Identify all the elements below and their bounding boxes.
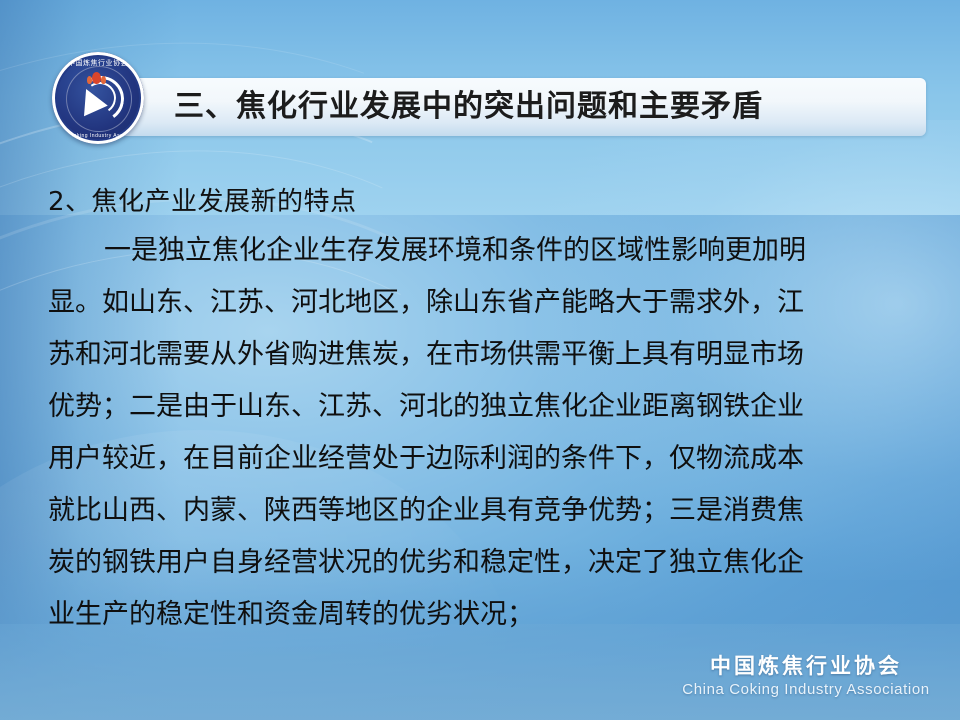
body-heading: 2、焦化产业发展新的特点 — [48, 186, 928, 219]
body-line: 业生产的稳定性和资金周转的优劣状况； — [48, 589, 928, 641]
body-line: 一是独立焦化企业生存发展环境和条件的区域性影响更加明 — [48, 225, 928, 277]
logo-ring-text-en: China Coking Industry Association — [52, 133, 144, 139]
body-line: 用户较近，在目前企业经营处于边际利润的条件下，仅物流成本 — [48, 433, 928, 485]
slide-footer: 中国炼焦行业协会 China Coking Industry Associati… — [676, 653, 936, 698]
body-line: 炭的钢铁用户自身经营状况的优劣和稳定性，决定了独立焦化企 — [48, 537, 928, 589]
logo-flame-icon — [92, 72, 101, 84]
presentation-slide: 三、焦化行业发展中的突出问题和主要矛盾 中国炼焦行业协会 China Cokin… — [0, 0, 960, 720]
association-logo-icon: 中国炼焦行业协会 China Coking Industry Associati… — [52, 52, 144, 144]
body-line: 就比山西、内蒙、陕西等地区的企业具有竞争优势；三是消费焦 — [48, 485, 928, 537]
footer-association-name-en: China Coking Industry Association — [676, 681, 936, 698]
slide-title: 三、焦化行业发展中的突出问题和主要矛盾 — [174, 78, 763, 136]
body-line: 显。如山东、江苏、河北地区，除山东省产能略大于需求外，江 — [48, 277, 928, 329]
body-line: 苏和河北需要从外省购进焦炭，在市场供需平衡上具有明显市场 — [48, 329, 928, 381]
body-line: 优势；二是由于山东、江苏、河北的独立焦化企业距离钢铁企业 — [48, 381, 928, 433]
slide-header-bar: 三、焦化行业发展中的突出问题和主要矛盾 — [74, 78, 926, 136]
footer-association-name-cn: 中国炼焦行业协会 — [676, 653, 936, 679]
slide-body: 2、焦化产业发展新的特点 一是独立焦化企业生存发展环境和条件的区域性影响更加明 … — [48, 186, 928, 641]
